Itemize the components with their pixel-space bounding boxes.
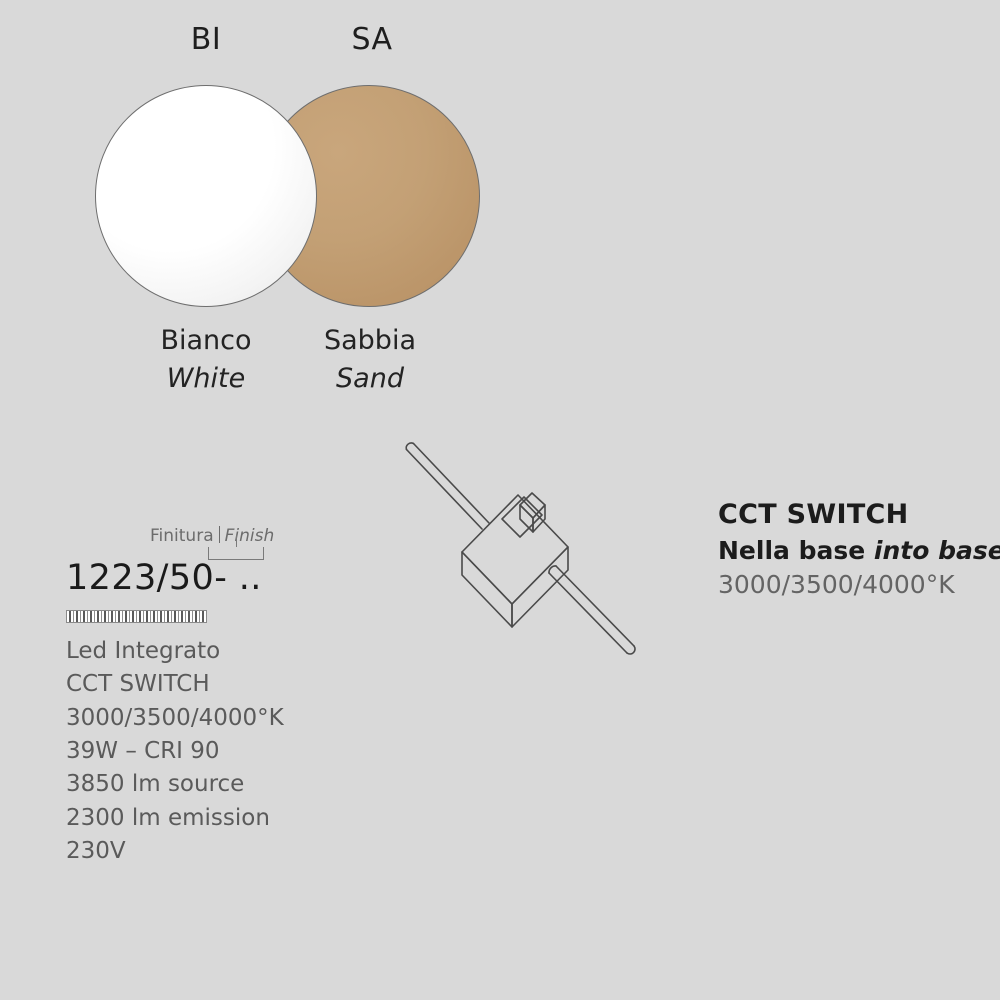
cct-subtitle-en: into base xyxy=(874,536,1000,565)
swatch-name-it-sabbia: Sabbia xyxy=(270,322,470,360)
cct-switch-subtitle: Nella base into base xyxy=(718,535,998,568)
product-code: 1223/50- .. xyxy=(66,558,396,598)
spec-line: 39W – CRI 90 xyxy=(66,735,396,768)
inline-cct-switch-diagram-icon xyxy=(390,435,660,665)
cct-switch-info-block: CCT SWITCH Nella base into base 3000/350… xyxy=(718,498,998,602)
cct-switch-temperatures: 3000/3500/4000°K xyxy=(718,569,998,602)
spec-line: 2300 lm emission xyxy=(66,802,396,835)
barcode-icon xyxy=(66,610,207,623)
swatch-name-en-sand: Sand xyxy=(270,360,470,398)
finish-label-it: Finitura xyxy=(150,526,214,546)
finish-label-en: Finish xyxy=(225,526,275,546)
spec-line: 230V xyxy=(66,835,396,868)
finish-label-separator xyxy=(219,526,220,543)
swatch-label-sabbia: Sabbia Sand xyxy=(270,322,470,399)
cct-subtitle-it: Nella base xyxy=(718,536,874,565)
finish-callout: Finitura Finish xyxy=(150,524,396,550)
finish-callout-bracket xyxy=(208,547,264,560)
swatch-code-bi: BI xyxy=(146,22,266,57)
finish-callout-labels: Finitura Finish xyxy=(150,524,396,546)
product-info-block: Finitura Finish 1223/50- .. Led Integrat… xyxy=(66,524,396,868)
spec-line: 3850 lm source xyxy=(66,768,396,801)
cct-switch-title: CCT SWITCH xyxy=(718,498,998,533)
swatch-circle-bianco[interactable] xyxy=(95,85,317,307)
spec-line: 3000/3500/4000°K xyxy=(66,702,396,735)
datasheet-canvas: BI SA Bianco White Sabbia Sand xyxy=(0,0,1000,1000)
swatch-code-sa: SA xyxy=(312,22,432,57)
spec-list: Led Integrato CCT SWITCH 3000/3500/4000°… xyxy=(66,635,396,868)
spec-line: CCT SWITCH xyxy=(66,668,396,701)
spec-line: Led Integrato xyxy=(66,635,396,668)
switch-diagram-svg xyxy=(390,435,660,665)
